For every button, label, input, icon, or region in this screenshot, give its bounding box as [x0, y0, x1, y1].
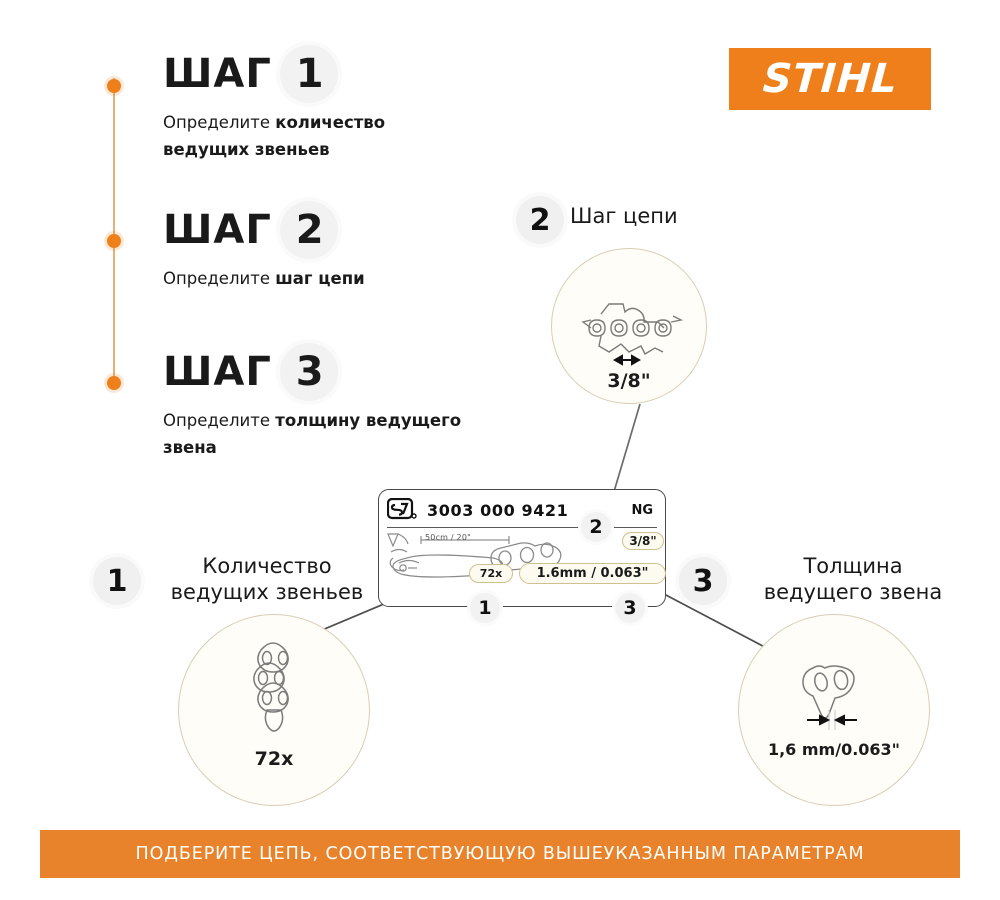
plate-marker-1: 1 — [470, 593, 500, 623]
stihl-logo: STIHL — [729, 48, 931, 110]
plate-type-code: NG — [631, 503, 653, 518]
plate-marker-2: 2 — [581, 512, 611, 542]
callout-1-title: Количество ведущих звеньев — [152, 553, 382, 606]
callout-3-title: Толщина ведущего звена — [738, 553, 968, 606]
callout-1-caption: 72x — [178, 748, 370, 770]
plate-part-number: 3003 000 9421 — [427, 501, 568, 520]
chainsaw-label-plate: 3003 000 9421 NG — [378, 489, 666, 607]
plate-marker-3: 3 — [615, 593, 645, 623]
stihl-logo-text: STIHL — [761, 56, 899, 102]
step-1-body: Определите количество ведущих звеньев — [163, 109, 463, 163]
bottom-banner-text: ПОДБЕРИТЕ ЦЕПЬ, СООТВЕТСТВУЮЩУЮ ВЫШЕУКАЗ… — [136, 844, 865, 864]
step-3-body-prefix: Определите — [163, 411, 275, 430]
timeline-dot-1 — [107, 79, 121, 93]
step-1-heading: ШАГ 1 — [163, 54, 463, 94]
step-2-heading-word: ШАГ — [163, 207, 272, 253]
stihl-mark-icon — [387, 498, 417, 522]
step-1-body-prefix: Определите — [163, 113, 275, 132]
drive-links-icon — [245, 640, 307, 740]
step-3-heading-word: ШАГ — [163, 349, 272, 395]
step-1-heading-number: 1 — [296, 51, 325, 97]
plate-bar-spec: 50cm / 20" — [425, 533, 471, 542]
step-3-body: Определите толщину ведущего звена — [163, 407, 463, 461]
step-3-heading: ШАГ 3 — [163, 352, 463, 392]
plate-highlight-drive-links: 72x — [469, 564, 513, 583]
step-2-heading: ШАГ 2 — [163, 210, 365, 250]
callout-2-title: Шаг цепи — [570, 203, 770, 229]
step-2: ШАГ 2 Определите шаг цепи — [163, 210, 365, 292]
callout-2-badge: 2 — [516, 196, 564, 244]
step-2-body-prefix: Определите — [163, 269, 275, 288]
step-2-body-strong: шаг цепи — [275, 269, 364, 288]
callout-1-badge: 1 — [93, 557, 141, 605]
bottom-banner: ПОДБЕРИТЕ ЦЕПЬ, СООТВЕТСТВУЮЩУЮ ВЫШЕУКАЗ… — [40, 830, 960, 878]
timeline-dot-2 — [107, 234, 121, 248]
step-1: ШАГ 1 Определите количество ведущих звен… — [163, 54, 463, 163]
step-3-heading-number: 3 — [296, 349, 325, 395]
step-3: ШАГ 3 Определите толщину ведущего звена — [163, 352, 463, 461]
step-2-heading-number: 2 — [296, 207, 325, 253]
timeline-line — [113, 78, 115, 388]
step-2-body: Определите шаг цепи — [163, 265, 365, 292]
callout-3-caption: 1,6 mm/0.063" — [738, 740, 930, 759]
infographic-canvas: ШАГ 1 Определите количество ведущих звен… — [0, 0, 1000, 900]
callout-3-badge: 3 — [679, 557, 727, 605]
plate-highlight-gauge: 1.6mm / 0.063" — [519, 563, 666, 584]
drive-link-gauge-icon — [793, 648, 877, 748]
callout-2-caption: 3/8" — [551, 370, 707, 392]
plate-highlight-pitch: 3/8" — [622, 532, 664, 550]
plate-divider — [387, 527, 657, 528]
chain-pitch-icon — [575, 290, 685, 370]
step-1-heading-word: ШАГ — [163, 51, 272, 97]
timeline-dot-3 — [107, 376, 121, 390]
